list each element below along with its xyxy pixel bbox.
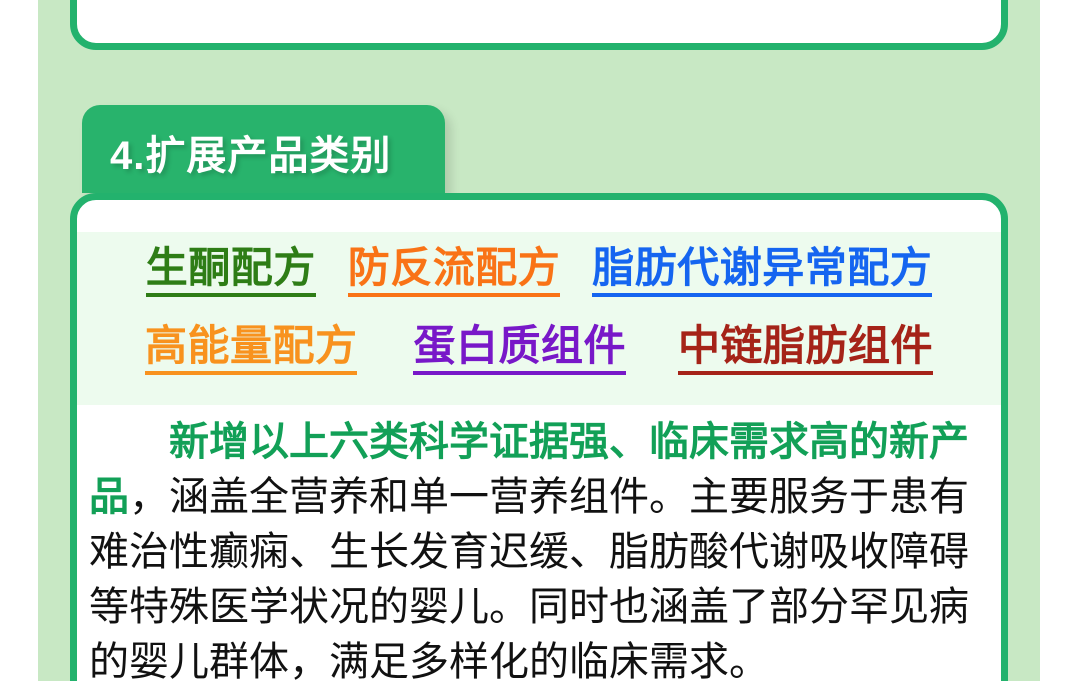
product-category-tag-anti-reflux: 防反流配方 bbox=[348, 244, 561, 297]
product-category-tag-protein-module: 蛋白质组件 bbox=[413, 322, 626, 375]
product-category-tag-mct-module: 中链脂肪组件 bbox=[678, 322, 933, 375]
paragraph-rest: ，涵盖全营养和单一营养组件。主要服务于患有难治性癫痫、生长发育迟缓、脂肪酸代谢吸… bbox=[89, 475, 969, 681]
product-category-tags-panel: 生酮配方 防反流配方 脂肪代谢异常配方 高能量配方 蛋白质组件 中链脂肪组件 bbox=[77, 232, 1001, 405]
previous-section-card bbox=[70, 0, 1008, 50]
product-category-tag-high-energy: 高能量配方 bbox=[145, 322, 358, 375]
section-4-title: 4.扩展产品类别 bbox=[110, 123, 391, 181]
section-4-body-paragraph: 新增以上六类科学证据强、临床需求高的新产品，涵盖全营养和单一营养组件。主要服务于… bbox=[89, 415, 999, 681]
section-4-expand-product-categories: 4.扩展产品类别 生酮配方 防反流配方 脂肪代谢异常配方 高能量配方 蛋白质组件… bbox=[70, 105, 1008, 681]
section-4-header-tab: 4.扩展产品类别 bbox=[82, 105, 445, 193]
product-category-tag-ketogenic: 生酮配方 bbox=[146, 244, 316, 297]
product-category-tag-row-2: 高能量配方 蛋白质组件 中链脂肪组件 bbox=[77, 322, 1001, 375]
product-category-tag-fat-metabolism: 脂肪代谢异常配方 bbox=[592, 244, 932, 297]
section-4-card: 生酮配方 防反流配方 脂肪代谢异常配方 高能量配方 蛋白质组件 中链脂肪组件 新… bbox=[70, 193, 1008, 681]
product-category-tag-row-1: 生酮配方 防反流配方 脂肪代谢异常配方 bbox=[77, 244, 1001, 297]
infographic-page: 4.扩展产品类别 生酮配方 防反流配方 脂肪代谢异常配方 高能量配方 蛋白质组件… bbox=[0, 0, 1080, 681]
